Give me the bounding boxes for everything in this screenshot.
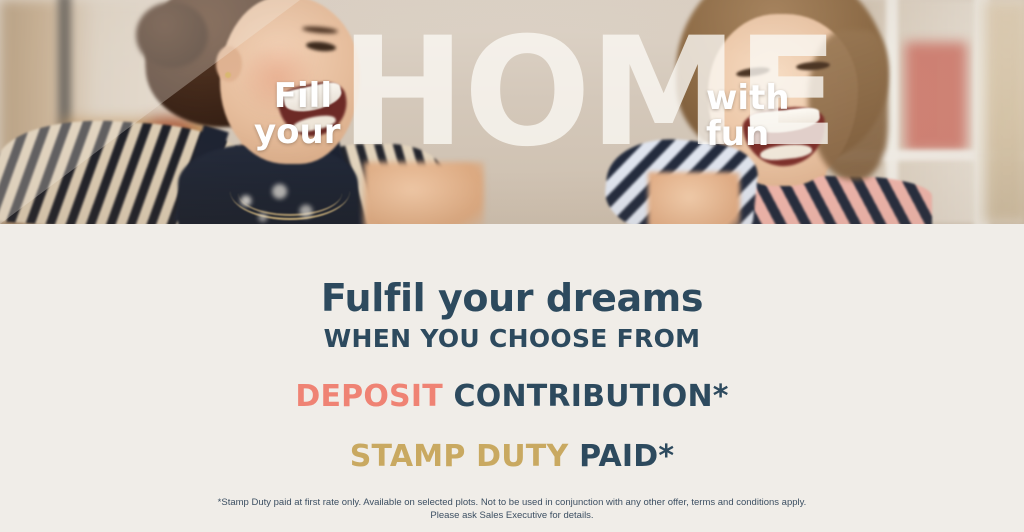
hero-overlay-right-line1: with: [706, 80, 826, 116]
hero-overlay-left-line1: Fill: [254, 78, 332, 114]
hero-photo: HOME Fill your with fun: [0, 0, 1024, 224]
offer-panel: Fulfil your dreams WHEN YOU CHOOSE FROM …: [0, 224, 1024, 532]
offer-option-stamp-duty-highlight: STAMP DUTY: [350, 439, 569, 474]
window-far-right-pane: [984, 0, 1024, 224]
woman-flour-dust: [222, 180, 342, 224]
hero-overlay-left-line2: your: [254, 114, 332, 150]
hero-overlay-left: Fill your: [254, 78, 332, 150]
offer-option-deposit-rest: CONTRIBUTION*: [454, 379, 729, 414]
promotional-banner: HOME Fill your with fun Fulfil your drea…: [0, 0, 1024, 532]
offer-option-deposit: DEPOSIT CONTRIBUTION*: [0, 354, 1024, 414]
woman-earring: [225, 72, 231, 78]
offer-option-stamp-duty-rest: PAID*: [579, 439, 674, 474]
offer-headline: Fulfil your dreams: [0, 224, 1024, 320]
offer-option-stamp-duty: STAMP DUTY PAID*: [0, 414, 1024, 474]
hero-overlay-right: with fun: [706, 80, 826, 152]
offer-subheadline: WHEN YOU CHOOSE FROM: [0, 320, 1024, 354]
offer-disclaimer: *Stamp Duty paid at first rate only. Ava…: [202, 496, 822, 522]
hero-overlay-right-line2: fun: [706, 116, 826, 152]
woman-hair-bun: [136, 2, 208, 68]
offer-option-deposit-highlight: DEPOSIT: [295, 379, 443, 414]
